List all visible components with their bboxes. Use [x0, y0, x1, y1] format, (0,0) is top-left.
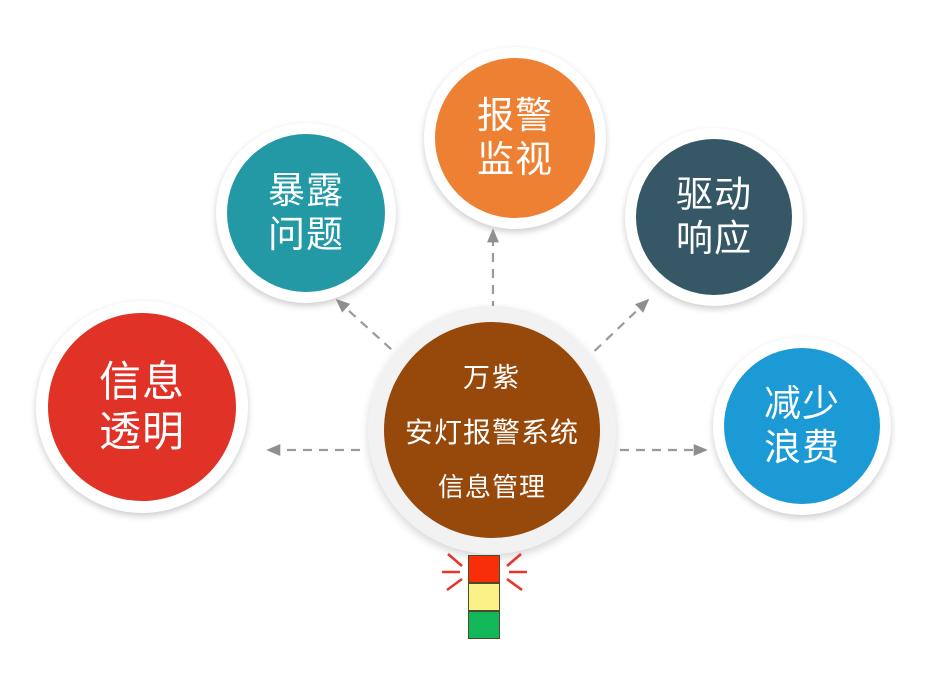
- center-hub-line2: 安灯报警系统: [405, 411, 579, 451]
- center-hub-disc: 万紫 安灯报警系统 信息管理: [384, 322, 600, 538]
- diagram-canvas: 报警 监视 暴露 问题 驱动 响应 信息 透明 减少 浪费 万紫 安灯报警系统 …: [0, 0, 939, 680]
- center-hub[interactable]: 万紫 安灯报警系统 信息管理: [368, 306, 616, 554]
- andon-light-tower[interactable]: [468, 555, 500, 639]
- andon-green-lamp: [468, 611, 500, 639]
- center-hub-line3: 信息管理: [438, 467, 546, 504]
- center-hub-line1: 万紫: [463, 356, 521, 395]
- andon-red-lamp: [468, 555, 500, 583]
- ray-right-upper: [507, 554, 521, 566]
- ray-right-lower: [507, 579, 522, 590]
- ray-left-lower: [447, 579, 462, 590]
- ray-left-upper: [448, 554, 462, 566]
- connector-arrow-up-right: [583, 300, 648, 362]
- connector-arrow-up-left: [337, 300, 403, 360]
- andon-yellow-lamp: [468, 583, 500, 611]
